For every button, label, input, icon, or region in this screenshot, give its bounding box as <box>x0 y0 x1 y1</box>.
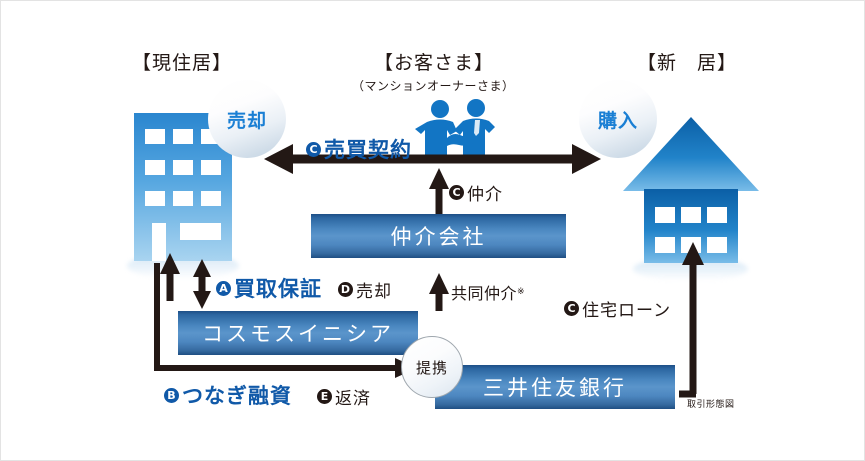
label-bridge-loan: B つなぎ融資 <box>164 380 292 410</box>
label-sell-text: 売却 <box>356 277 392 302</box>
label-purchase-guarantee: A 買取保証 <box>216 273 322 303</box>
cosmos-initia-label: コスモスイニシア <box>202 318 394 348</box>
label-purchase-guarantee-text: 買取保証 <box>234 273 322 303</box>
label-joint-brokerage: 共同仲介 ※ <box>451 280 525 304</box>
marker-c-home-loan: C <box>564 301 579 316</box>
arrow-joint-brokerage-up <box>429 273 449 311</box>
partnership-bubble: 提携 <box>401 336 463 398</box>
label-repayment: E 返済 <box>317 384 371 409</box>
label-repayment-text: 返済 <box>335 384 371 409</box>
label-home-loan-text: 住宅ローン <box>582 296 671 321</box>
label-bridge-loan-text: つなぎ融資 <box>182 380 292 410</box>
label-joint-brokerage-note: ※ <box>517 287 525 297</box>
brokerage-company-box: 仲介会社 <box>311 214 566 258</box>
marker-b-bridge-loan: B <box>164 388 179 403</box>
marker-c-brokerage: C <box>449 185 464 200</box>
marker-c-sale-contract: C <box>306 142 321 157</box>
arrow-home-loan <box>679 242 704 394</box>
smbc-bank-box: 三井住友銀行 <box>435 365 675 409</box>
cosmos-initia-box: コスモスイニシア <box>178 311 418 355</box>
label-joint-brokerage-text: 共同仲介 <box>451 280 517 304</box>
label-brokerage: C 仲介 <box>449 180 503 205</box>
arrow-brokerage-up <box>429 168 449 215</box>
label-sell: D 売却 <box>338 277 392 302</box>
arrow-purchase-guarantee <box>193 259 211 309</box>
smbc-bank-label: 三井住友銀行 <box>483 372 627 402</box>
label-home-loan: C 住宅ローン <box>564 296 671 321</box>
partnership-label: 提携 <box>416 357 448 378</box>
arrow-sell-to-building <box>160 253 180 301</box>
marker-a-purchase-guarantee: A <box>216 281 231 296</box>
diagram-caption: 取引形態図 <box>687 397 735 410</box>
marker-e-repayment: E <box>317 389 332 404</box>
label-brokerage-text: 仲介 <box>467 180 503 205</box>
label-sale-contract-text: 売買契約 <box>324 134 412 164</box>
label-sale-contract: C 売買契約 <box>306 134 412 164</box>
marker-d-sell: D <box>338 282 353 297</box>
brokerage-company-label: 仲介会社 <box>391 221 487 251</box>
transaction-diagram: 【現住居】 【お客さま】 （マンションオーナーさま） 【新 居】 売却 <box>0 0 865 461</box>
